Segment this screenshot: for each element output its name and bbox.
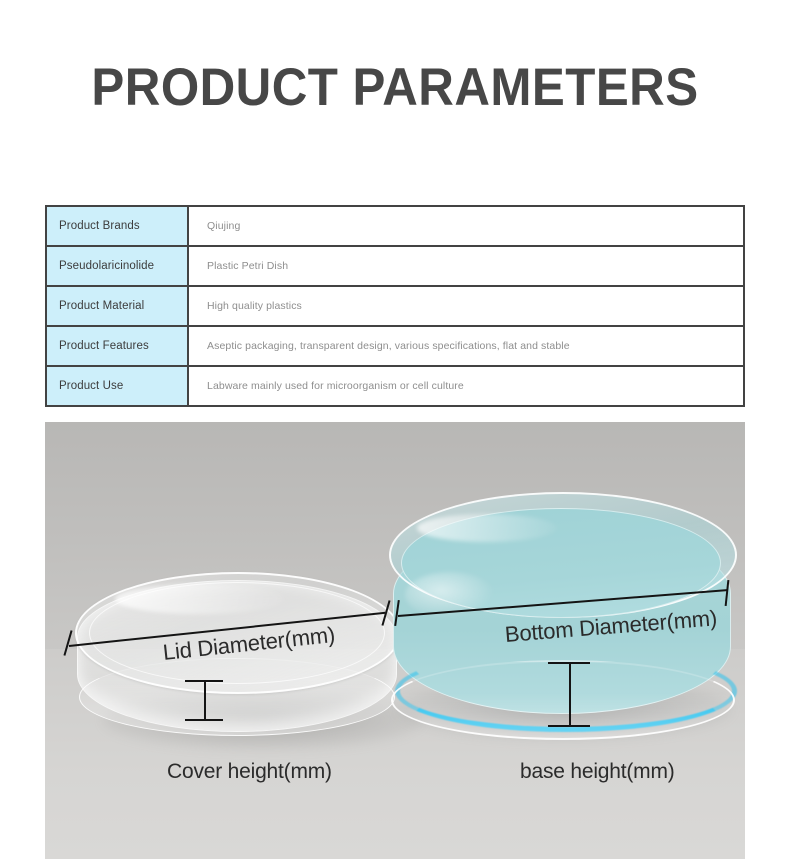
spec-value-product-features: Aseptic packaging, transparent design, v… bbox=[188, 326, 744, 366]
spec-value-product-brands: Qiujing bbox=[188, 206, 744, 246]
spec-key-product-features: Product Features bbox=[46, 326, 188, 366]
spec-key-product-material: Product Material bbox=[46, 286, 188, 326]
cover-height-label: Cover height(mm) bbox=[167, 760, 332, 784]
spec-value-product-use: Labware mainly used for microorganism or… bbox=[188, 366, 744, 406]
table-row: Product Brands Qiujing bbox=[46, 206, 744, 246]
base-highlight bbox=[417, 514, 557, 542]
spec-value-pseudolaricinolide: Plastic Petri Dish bbox=[188, 246, 744, 286]
spec-key-product-use: Product Use bbox=[46, 366, 188, 406]
spec-key-pseudolaricinolide: Pseudolaricinolide bbox=[46, 246, 188, 286]
product-parameters-table: Product Brands Qiujing Pseudolaricinolid… bbox=[45, 205, 745, 407]
table-row: Product Features Aseptic packaging, tran… bbox=[46, 326, 744, 366]
table-row: Product Use Labware mainly used for micr… bbox=[46, 366, 744, 406]
table-row: Product Material High quality plastics bbox=[46, 286, 744, 326]
base-height-label: base height(mm) bbox=[520, 760, 675, 784]
base-height-cap-bottom bbox=[548, 725, 590, 727]
base-height-bracket bbox=[569, 662, 571, 726]
lid-highlight bbox=[115, 584, 285, 614]
page-title: PRODUCT PARAMETERS bbox=[70, 56, 721, 120]
spec-key-product-brands: Product Brands bbox=[46, 206, 188, 246]
product-photo: Lid Diameter(mm) Cover height(mm) Bottom… bbox=[45, 422, 745, 859]
cover-height-bracket bbox=[204, 680, 206, 720]
table-row: Pseudolaricinolide Plastic Petri Dish bbox=[46, 246, 744, 286]
cover-height-cap-bottom bbox=[185, 719, 223, 721]
spec-value-product-material: High quality plastics bbox=[188, 286, 744, 326]
base-bottom-edge bbox=[391, 660, 735, 740]
table-body: Product Brands Qiujing Pseudolaricinolid… bbox=[46, 206, 744, 406]
